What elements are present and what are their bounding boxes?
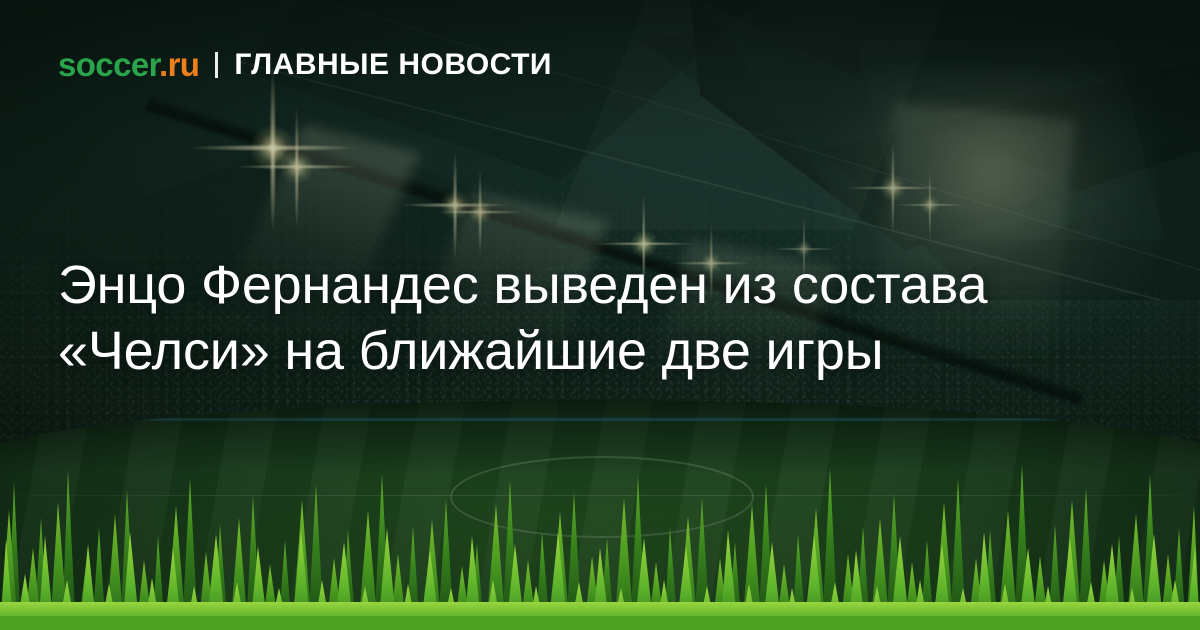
card-header: soccer.ru ГЛАВНЫЕ НОВОСТИ bbox=[58, 48, 552, 81]
logo-tld-text: .ru bbox=[159, 46, 199, 83]
section-title: ГЛАВНЫЕ НОВОСТИ bbox=[234, 50, 552, 80]
news-share-card: soccer.ru ГЛАВНЫЕ НОВОСТИ Энцо Фернандес… bbox=[0, 0, 1200, 630]
logo-name-text: soccer bbox=[58, 46, 159, 83]
headline-line-2: «Челси» на ближайшие две игры bbox=[58, 318, 1158, 384]
article-headline: Энцо Фернандес выведен из состава «Челси… bbox=[58, 252, 1158, 384]
header-separator bbox=[215, 52, 218, 78]
foreground-grass bbox=[0, 440, 1200, 630]
headline-line-1: Энцо Фернандес выведен из состава bbox=[58, 252, 1158, 318]
soccer-ru-logo[interactable]: soccer.ru bbox=[58, 48, 199, 81]
